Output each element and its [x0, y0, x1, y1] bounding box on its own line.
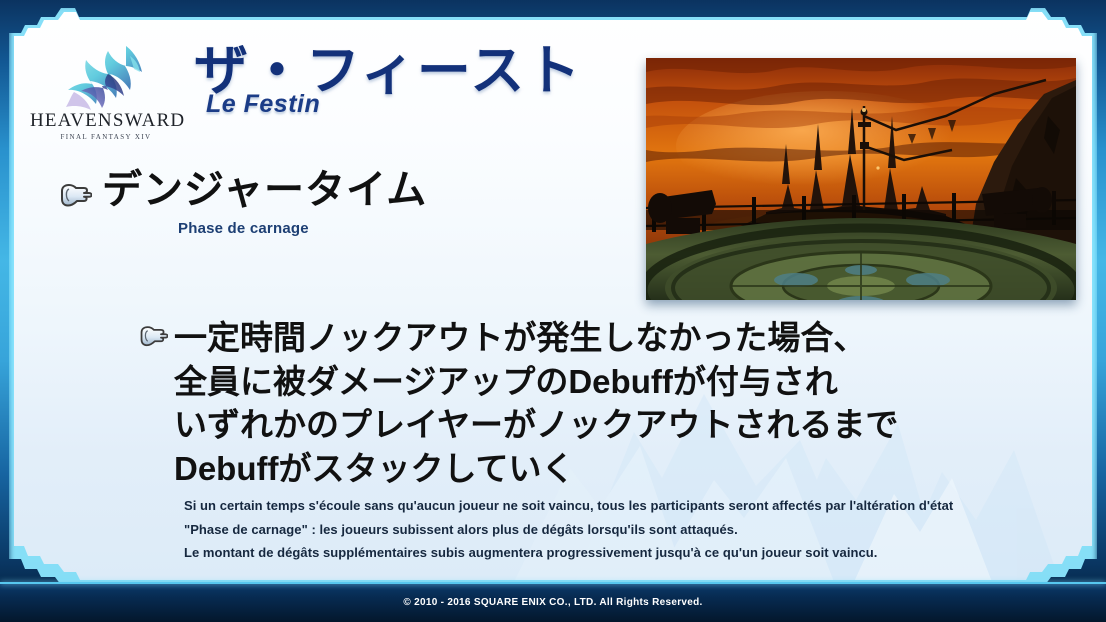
slide-card: HEAVENSWARD FINAL FANTASY XIV ザ・フィースト Le… — [14, 10, 1092, 582]
slide-footer: © 2010 - 2016 SQUARE ENIX CO., LTD. All … — [0, 582, 1106, 622]
body-line: いずれかのプレイヤーがノックアウトされるまで — [174, 403, 898, 447]
body-line: 一定時間ノックアウトが発生しなかった場合、 — [174, 316, 898, 360]
pointing-hand-icon — [58, 182, 92, 208]
body-line: 全員に被ダメージアップのDebuffが付与され — [174, 360, 898, 404]
section-title-fr: Phase de carnage — [178, 220, 309, 237]
section-heading: デンジャータイム — [58, 168, 427, 213]
logo-title: HEAVENSWARD — [30, 110, 182, 132]
pointing-hand-icon — [138, 324, 168, 348]
heavensward-logo: HEAVENSWARD FINAL FANTASY XIV — [30, 38, 182, 141]
french-line: Le montant de dégâts supplémentaires sub… — [184, 541, 1004, 565]
copyright-text: © 2010 - 2016 SQUARE ENIX CO., LTD. All … — [403, 597, 702, 608]
footer-divider — [0, 582, 1106, 584]
french-line: Si un certain temps s'écoule sans qu'auc… — [184, 494, 1004, 518]
game-screenshot-art — [646, 58, 1076, 300]
french-line: "Phase de carnage" : les joueurs subisse… — [184, 518, 1004, 542]
body-line: Debuffがスタックしていく — [174, 447, 898, 491]
body-block: 一定時間ノックアウトが発生しなかった場合、 全員に被ダメージアップのDebuff… — [138, 316, 898, 490]
body-text-jp: 一定時間ノックアウトが発生しなかった場合、 全員に被ダメージアップのDebuff… — [174, 316, 898, 490]
title-block: ザ・フィースト Le Festin — [194, 44, 614, 119]
french-description: Si un certain temps s'écoule sans qu'auc… — [184, 494, 1004, 565]
slide-content: HEAVENSWARD FINAL FANTASY XIV ザ・フィースト Le… — [14, 10, 1092, 582]
heavensward-dragon-art-icon — [30, 38, 182, 116]
game-screenshot — [646, 58, 1076, 300]
logo-subtitle: FINAL FANTASY XIV — [30, 133, 182, 141]
section-title-jp: デンジャータイム — [102, 168, 427, 213]
slide-root: HEAVENSWARD FINAL FANTASY XIV ザ・フィースト Le… — [0, 0, 1106, 622]
